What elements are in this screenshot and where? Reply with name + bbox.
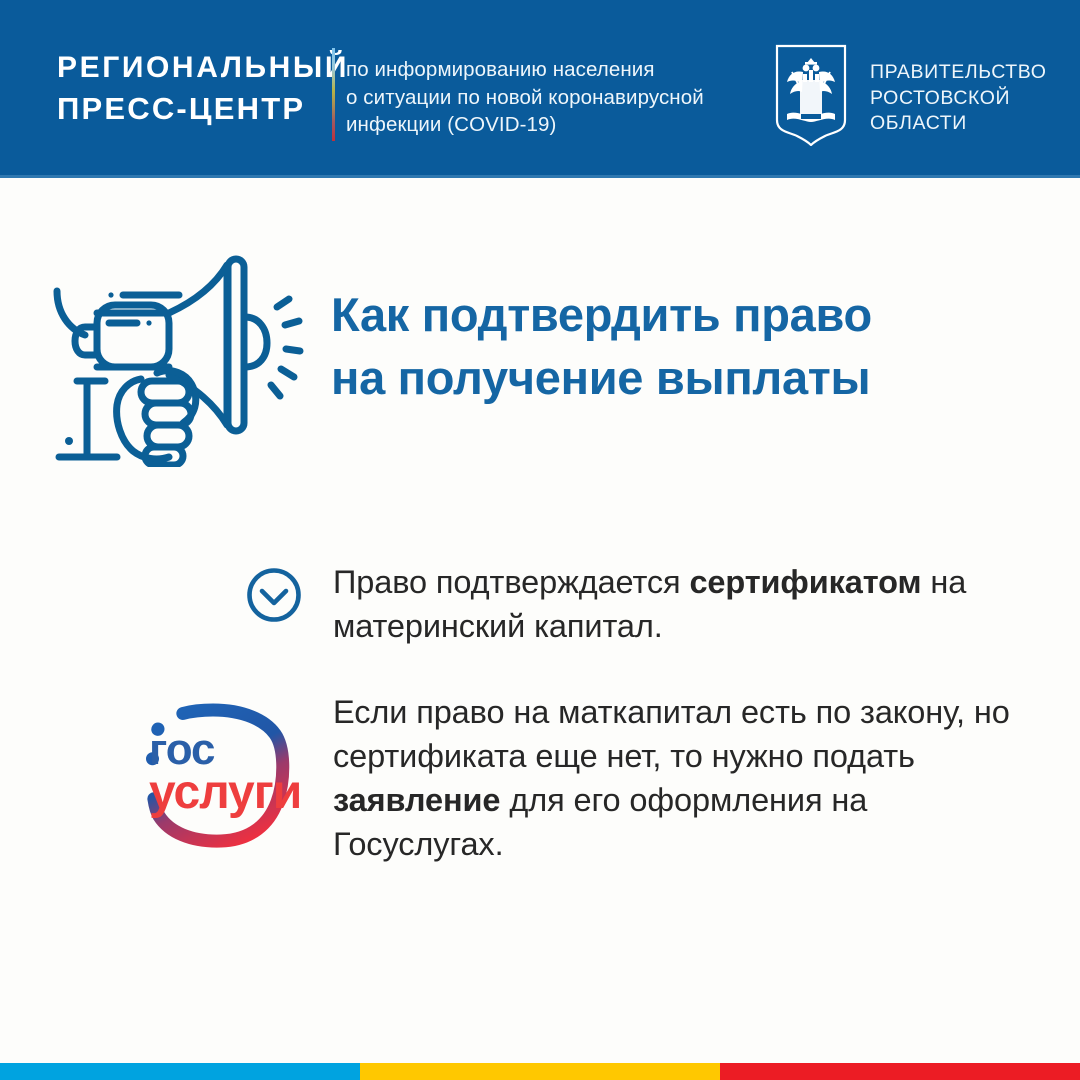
government-line-2: РОСТОВСКОЙ [870,86,1047,112]
page-title: Как подтвердить право на получение выпла… [331,283,991,409]
item-text: Право подтверждается сертификатом на мат… [333,560,1033,648]
item-text-bold-1: заявление [333,782,500,818]
footer-stripe-red [720,1063,1080,1080]
header-subtitle-line-1: по информированию населения [346,56,746,84]
brand-line-2: ПРЕСС-ЦЕНТР [57,88,349,130]
government-block: ПРАВИТЕЛЬСТВО РОСТОВСКОЙ ОБЛАСТИ [775,44,1047,146]
government-line-3: ОБЛАСТИ [870,111,1047,137]
gosuslugi-logo: гос услуги [125,684,308,867]
list-item: Право подтверждается сертификатом на мат… [0,560,1080,648]
header-subtitle-line-3: инфекции (COVID-19) [346,111,746,139]
item-icon-slot [0,560,333,648]
footer-stripe-yellow [360,1063,720,1080]
page-title-line-1: Как подтвердить право [331,283,991,346]
rostov-coat-of-arms-icon [775,44,847,146]
title-section: Как подтвердить право на получение выпла… [0,250,1080,480]
item-text: Если право на маткапитал есть по закону,… [333,690,1033,867]
list-item: гос услуги Если право на маткапитал есть… [0,690,1080,867]
item-text-part-1: Право подтверждается [333,564,689,600]
header-subtitle-line-2: о ситуации по новой коронавирусной [346,84,746,112]
svg-text:услуги: услуги [149,766,301,819]
check-circle-icon [245,566,303,624]
header-subtitle: по информированию населения о ситуации п… [346,56,746,139]
government-line-1: ПРАВИТЕЛЬСТВО [870,60,1047,86]
footer-stripes [0,1063,1080,1080]
item-text-part-1: Если право на маткапитал есть по закону,… [333,694,1010,774]
brand-block: РЕГИОНАЛЬНЫЙ ПРЕСС-ЦЕНТР [57,48,349,130]
government-label: ПРАВИТЕЛЬСТВО РОСТОВСКОЙ ОБЛАСТИ [870,44,1047,137]
item-text-bold-1: сертификатом [689,564,921,600]
item-icon-slot: гос услуги [0,690,333,867]
megaphone-in-hand-icon [45,255,307,467]
page-header: РЕГИОНАЛЬНЫЙ ПРЕСС-ЦЕНТР по информирован… [0,0,1080,178]
footer-stripe-blue [0,1063,360,1080]
brand-line-1: РЕГИОНАЛЬНЫЙ [57,48,349,88]
page-title-line-2: на получение выплаты [331,346,991,409]
tricolor-divider [332,48,335,141]
